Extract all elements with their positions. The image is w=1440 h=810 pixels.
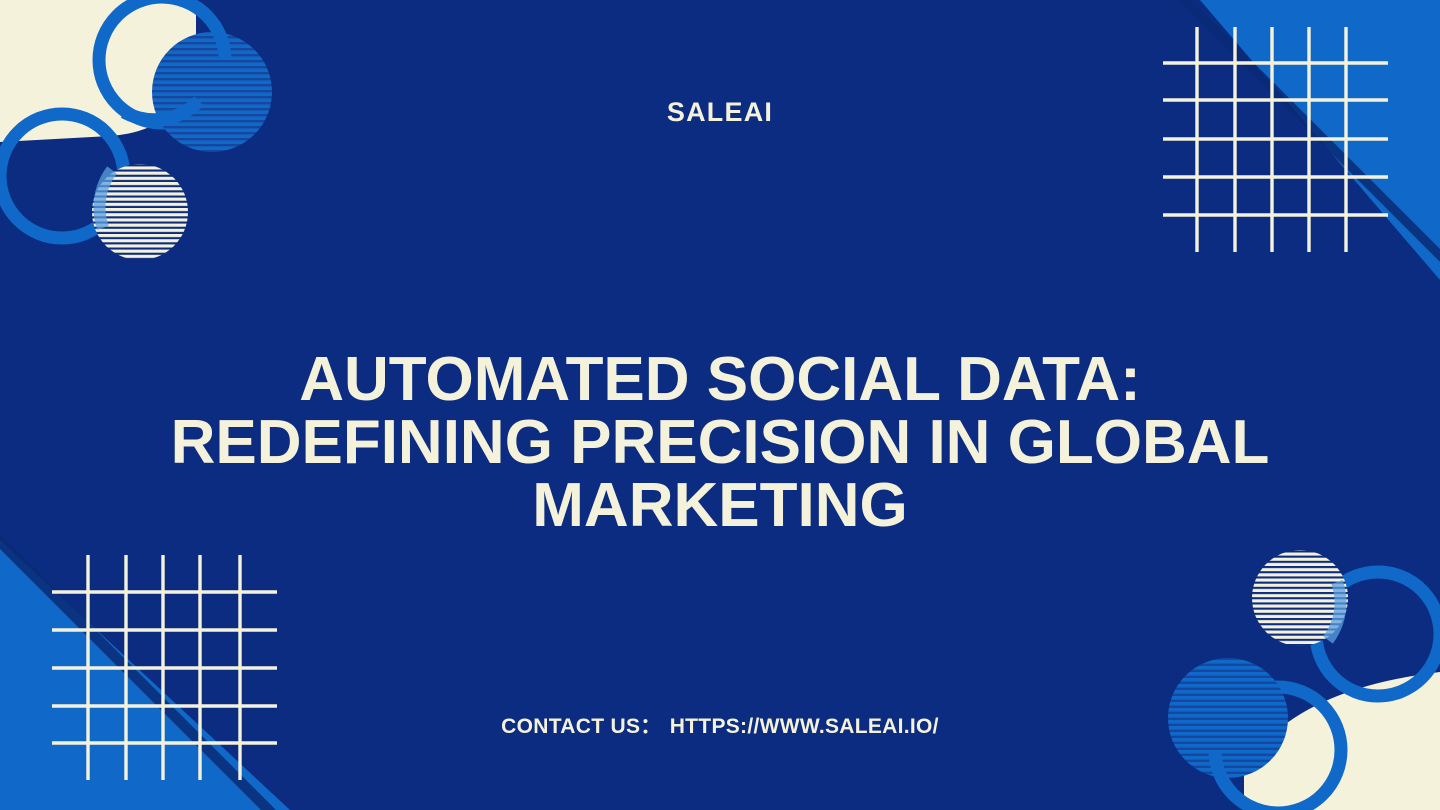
bottom-right-ring-lower <box>1316 572 1440 696</box>
bottom-right-striped-circle-cream <box>1252 550 1348 646</box>
brand-logo: SALEAI <box>0 96 1440 128</box>
bottom-left-diagonal-shadow <box>0 534 276 810</box>
top-left-striped-circle-cream <box>92 164 188 260</box>
title-line-2: REDEFINING PRECISION IN GLOBAL <box>120 411 1320 474</box>
decoration-top-right <box>1163 0 1440 280</box>
contact-label: CONTACT US： <box>501 715 661 738</box>
top-left-ring-through-stripes <box>99 170 112 228</box>
contact-footer: CONTACT US： HTTPS://WWW.SALEAI.IO/ <box>0 713 1440 741</box>
contact-url[interactable]: HTTPS://WWW.SALEAI.IO/ <box>670 715 939 738</box>
title-line-1: AUTOMATED SOCIAL DATA: <box>120 348 1320 411</box>
page-title: AUTOMATED SOCIAL DATA: REDEFINING PRECIS… <box>120 348 1320 538</box>
decoration-bottom-left <box>0 534 290 810</box>
decoration-top-left <box>0 0 272 260</box>
bottom-right-cream-shape <box>1244 672 1440 810</box>
bottom-right-ring-upper-overlap <box>1215 750 1278 810</box>
top-right-grid <box>1163 27 1388 252</box>
top-left-ring-upper-overlap <box>162 0 225 60</box>
bottom-right-ring-through-stripes <box>1328 582 1341 640</box>
bottom-left-blue-triangle <box>0 540 290 810</box>
bottom-right-ring-upper <box>1215 687 1341 810</box>
brand-logo-text: SALEAI <box>667 97 773 127</box>
decoration-bottom-right <box>1168 550 1440 810</box>
presentation-slide: SALEAI AUTOMATED SOCIAL DATA: REDEFINING… <box>0 0 1440 810</box>
title-line-3: MARKETING <box>120 474 1320 537</box>
top-left-ring-lower <box>0 114 124 238</box>
top-right-blue-triangle <box>1200 0 1440 280</box>
top-left-striped-circle-blue <box>152 32 272 152</box>
bottom-left-grid <box>52 555 277 780</box>
top-right-diagonal-shadow <box>1178 0 1440 262</box>
